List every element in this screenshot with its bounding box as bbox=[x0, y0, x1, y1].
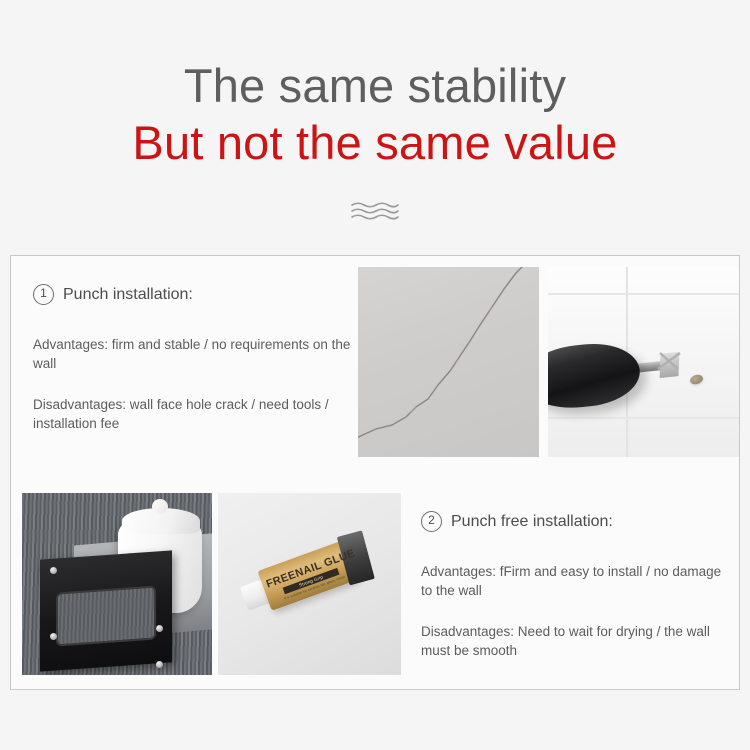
glue-tube: FREENAIL GLUE Strong Grip It is suitable… bbox=[237, 534, 375, 619]
section-2-disadvantages: Disadvantages: Need to wait for drying /… bbox=[421, 622, 733, 660]
glue-tube-photo: FREENAIL GLUE Strong Grip It is suitable… bbox=[218, 493, 401, 675]
wave-divider bbox=[0, 200, 750, 222]
tile-seam bbox=[548, 293, 739, 295]
bracket-screw bbox=[50, 567, 57, 574]
headline-block: The same stability But not the same valu… bbox=[0, 58, 750, 172]
tile-seam bbox=[548, 417, 739, 419]
section-2-heading: 2 Punch free installation: bbox=[421, 511, 733, 532]
step-number-badge-2: 2 bbox=[421, 511, 442, 532]
section-2-advantages: Advantages: fFirm and easy to install / … bbox=[421, 562, 733, 600]
section-1-heading: 1 Punch installation: bbox=[33, 284, 358, 305]
drill-body bbox=[548, 339, 643, 413]
comparison-panel: 1 Punch installation: Advantages: firm a… bbox=[10, 255, 740, 690]
section-1-title: Punch installation: bbox=[63, 285, 193, 305]
headline-secondary: But not the same value bbox=[0, 114, 750, 172]
section-1-disadvantages: Disadvantages: wall face hole crack / ne… bbox=[33, 395, 358, 433]
section-1-advantages: Advantages: firm and stable / no require… bbox=[33, 335, 358, 373]
section-2-title: Punch free installation: bbox=[451, 512, 613, 532]
bracket-holder-photo bbox=[22, 493, 212, 675]
drill-tip-icon bbox=[654, 347, 684, 377]
wave-lines-icon bbox=[350, 209, 400, 226]
step-number-badge-1: 1 bbox=[33, 284, 54, 305]
bracket-screw bbox=[50, 633, 57, 640]
drilled-hole bbox=[689, 373, 704, 385]
headline-primary: The same stability bbox=[0, 58, 750, 114]
cracked-wall-photo bbox=[358, 267, 539, 457]
wall-crack-icon bbox=[358, 267, 539, 457]
drill-on-wall-photo bbox=[548, 267, 739, 457]
section-2-text: 2 Punch free installation: Advantages: f… bbox=[421, 511, 733, 660]
bracket-screw bbox=[156, 661, 163, 668]
bracket-cutout bbox=[56, 586, 156, 647]
bracket-screw bbox=[156, 625, 163, 632]
section-1-text: 1 Punch installation: Advantages: firm a… bbox=[33, 284, 358, 433]
ceramic-pot-knob bbox=[152, 499, 168, 514]
